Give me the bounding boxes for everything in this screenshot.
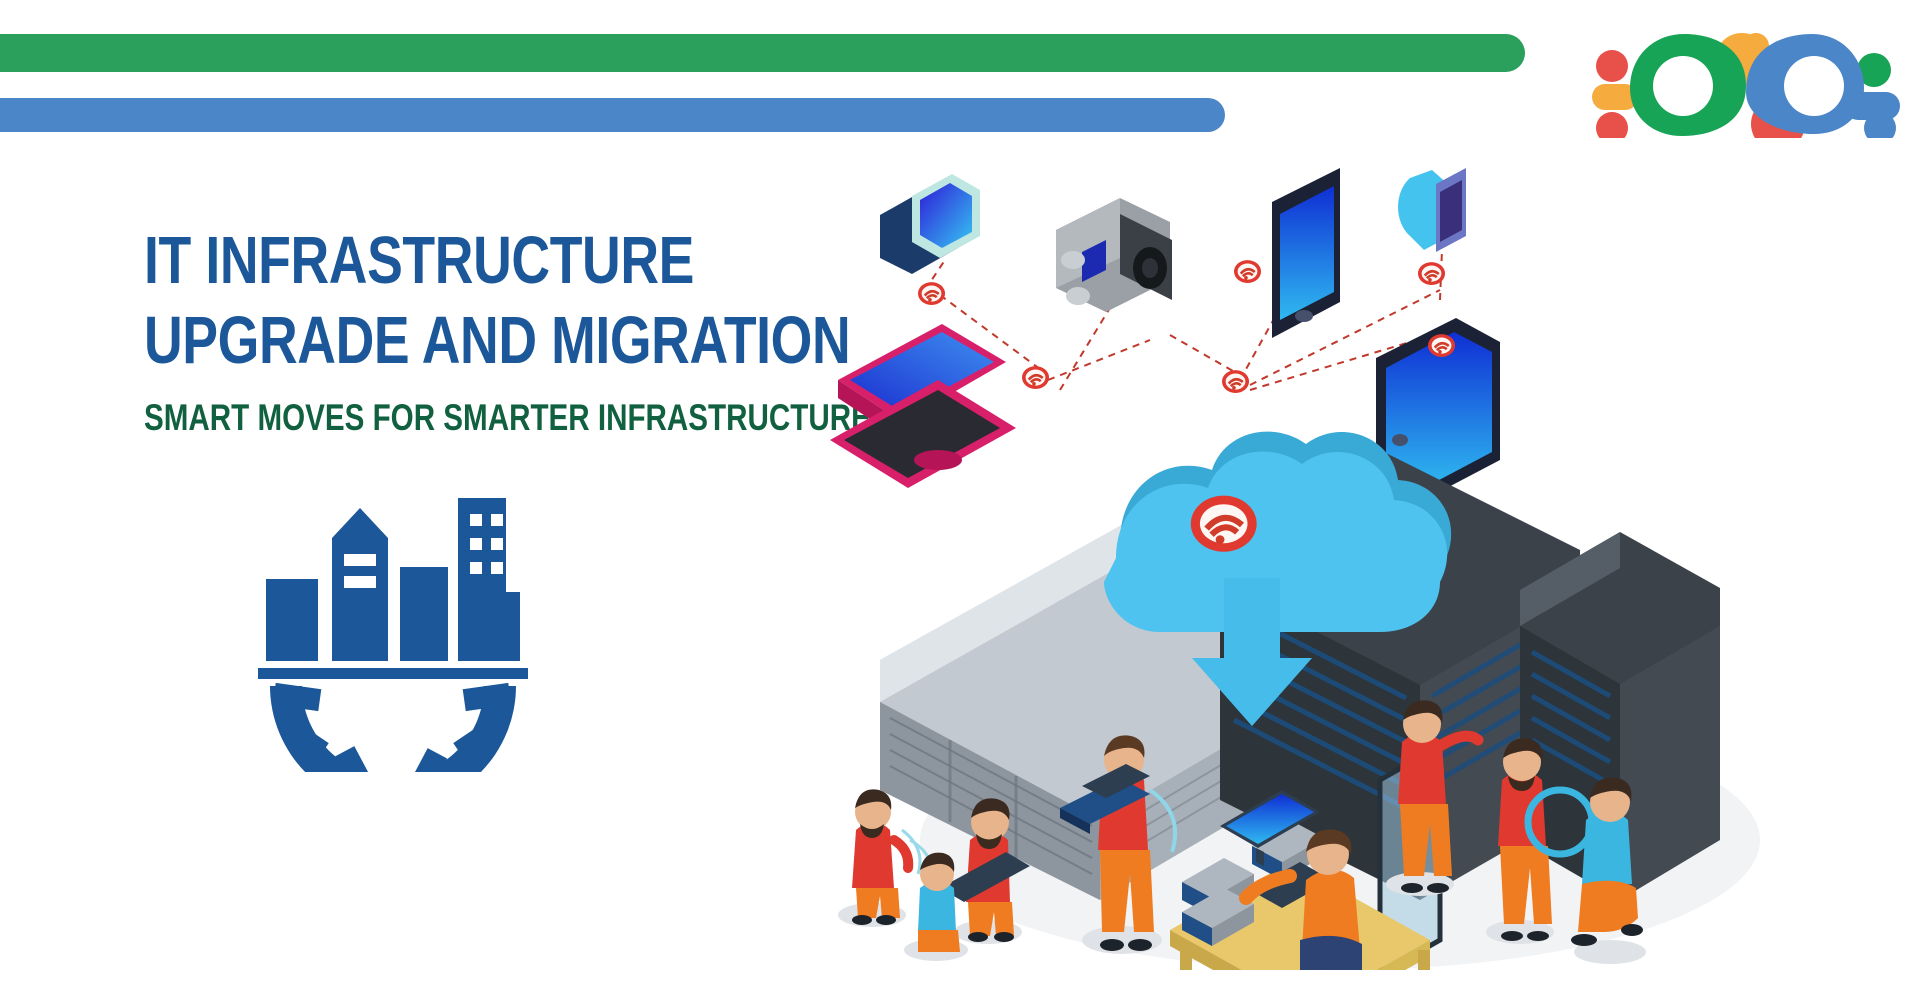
laptop-device [830, 324, 1016, 488]
tall-window-3 [470, 538, 482, 550]
logo-dot-red-bottom [1596, 112, 1628, 138]
tower-window-1 [344, 554, 376, 566]
company-logo[interactable] [1586, 20, 1906, 138]
gear-tooth-4 [409, 748, 447, 772]
baseline-rule [258, 668, 528, 679]
smartphone-device [1272, 168, 1340, 338]
blue-accent-bar [0, 98, 1225, 132]
wifi-badge-icon [1191, 496, 1257, 552]
isometric-datacenter-cloud-illustration [820, 140, 1920, 970]
technician-cabling [838, 789, 908, 927]
wifi-badge-icon [1234, 260, 1261, 283]
tall-window-4 [491, 538, 503, 550]
fitness-band-device [1398, 168, 1466, 252]
wifi-badge-icon [918, 282, 945, 305]
logo-dot-red-top [1596, 50, 1628, 82]
page-title-line-2: UPGRADE AND MIGRATION [144, 308, 672, 374]
tall-window-2 [491, 514, 503, 526]
poster-canvas: IT INFRASTRUCTURE UPGRADE AND MIGRATION … [0, 0, 1920, 1000]
headline-block: IT INFRASTRUCTURE UPGRADE AND MIGRATION … [78, 228, 738, 439]
wifi-badge-icon [1428, 334, 1455, 357]
page-subtitle: SMART MOVES FOR SMARTER INFRASTRUCTURE [144, 397, 672, 439]
logo-loop-green-hole [1653, 56, 1713, 116]
wifi-badge-icon [1022, 366, 1049, 389]
tall-window-1 [470, 514, 482, 526]
tower-window-2 [344, 576, 376, 588]
tall-window-6 [491, 562, 503, 574]
tall-window-5 [470, 562, 482, 574]
logo-loop-blue-hole [1784, 56, 1844, 116]
building-small [480, 592, 520, 661]
wifi-badge-icon [1418, 262, 1445, 285]
action-camera-device [1056, 198, 1172, 312]
smartwatch-square-device [880, 174, 980, 274]
city-buildings-gear-icon [248, 472, 538, 772]
building-mid [400, 567, 448, 661]
green-accent-bar [0, 34, 1525, 72]
page-title-line-1: IT INFRASTRUCTURE [144, 228, 672, 294]
wifi-badge-icon [1222, 370, 1249, 393]
building-short [266, 579, 318, 661]
office-chair-back [1300, 936, 1362, 970]
